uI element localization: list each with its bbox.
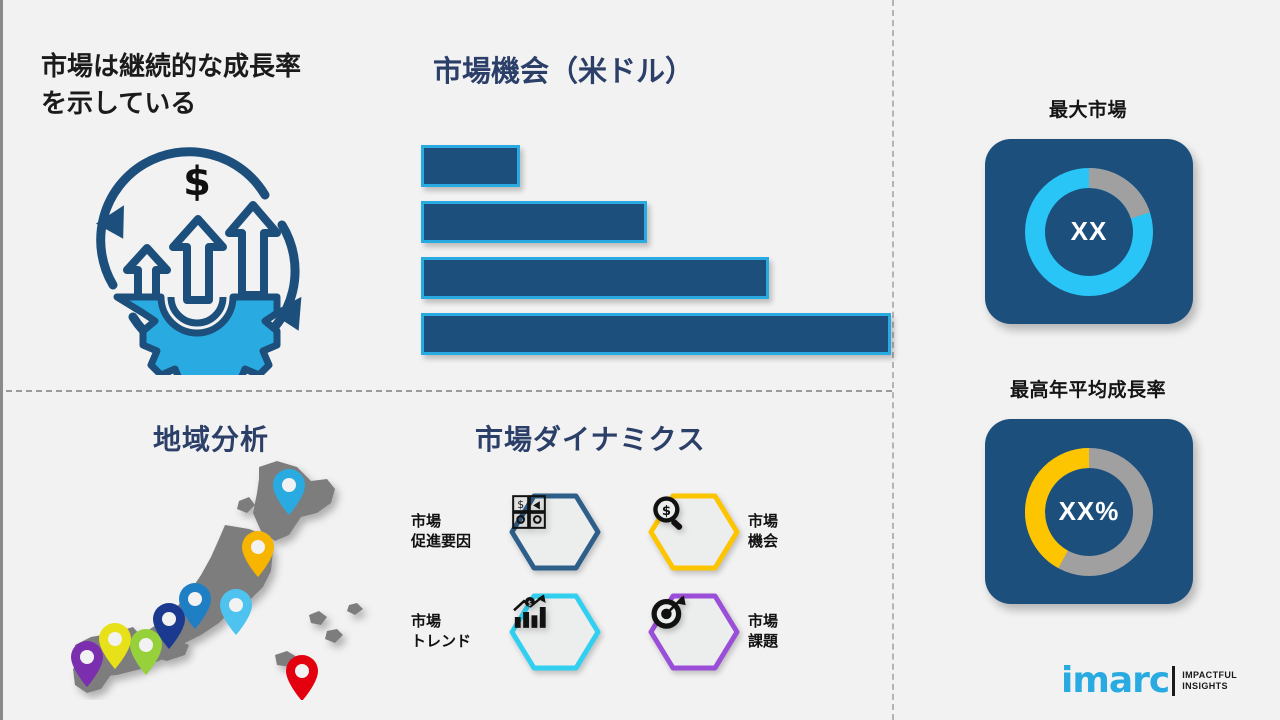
bar-row-4 (421, 313, 891, 355)
japan-map (63, 455, 393, 700)
svg-text:$: $ (662, 504, 671, 519)
dynamics-panel-title: 市場ダイナミクス (475, 418, 706, 458)
growth-gear-dollar-icon: $ (75, 135, 320, 375)
highest-cagr-donut (1014, 437, 1164, 587)
dynamics-label-trends: 市場 トレンド (411, 612, 503, 653)
highest-cagr-title: 最高年平均成長率 (893, 375, 1280, 402)
regional-panel-title: 地域分析 (153, 418, 269, 458)
target-arrow-icon (648, 592, 740, 672)
puzzle-pieces-icon: $ (509, 492, 601, 572)
market-opportunity-bar-chart (421, 145, 891, 355)
bar-row-1 (421, 145, 520, 187)
highest-cagr-card: XX% (985, 419, 1193, 604)
dynamics-label-challenges: 市場 課題 (748, 612, 840, 653)
magnifier-dollar-icon: $ (648, 492, 740, 572)
dynamics-item-opportunity[interactable]: $ 市場 機会 (648, 492, 840, 572)
hexagon-trends: $ (509, 592, 601, 672)
imarc-logo: imarc IMPACTFUL INSIGHTS (1061, 663, 1237, 699)
svg-text:$: $ (528, 599, 532, 607)
svg-text:$: $ (517, 498, 524, 511)
hexagon-challenges (648, 592, 740, 672)
dynamics-item-trends[interactable]: 市場 トレンド $ (411, 592, 601, 672)
bar-row-2 (421, 201, 647, 243)
dynamics-label-drivers: 市場 促進要因 (411, 512, 503, 553)
dynamics-item-challenges[interactable]: 市場 課題 (648, 592, 840, 672)
dynamics-item-drivers[interactable]: 市場 促進要因 $ (411, 492, 601, 572)
largest-market-card: XX (985, 139, 1193, 324)
bar-chart-growth-icon: $ (509, 592, 601, 672)
infographic-page: 市場は継続的な成長率 を示している $ (0, 0, 1280, 720)
horizontal-divider (6, 390, 892, 392)
logo-divider (1172, 666, 1175, 696)
largest-market-donut (1014, 157, 1164, 307)
bar-row-3 (421, 257, 769, 299)
dynamics-label-opportunity: 市場 機会 (748, 512, 840, 553)
opportunity-panel-title: 市場機会（米ドル） (433, 48, 863, 90)
hexagon-opportunity: $ (648, 492, 740, 572)
logo-tagline: IMPACTFUL INSIGHTS (1182, 670, 1237, 693)
largest-market-title: 最大市場 (893, 95, 1280, 122)
hexagon-drivers: $ (509, 492, 601, 572)
growth-panel-title: 市場は継続的な成長率 を示している (41, 48, 391, 122)
logo-wordmark: imarc (1061, 663, 1169, 699)
svg-text:$: $ (183, 159, 211, 205)
